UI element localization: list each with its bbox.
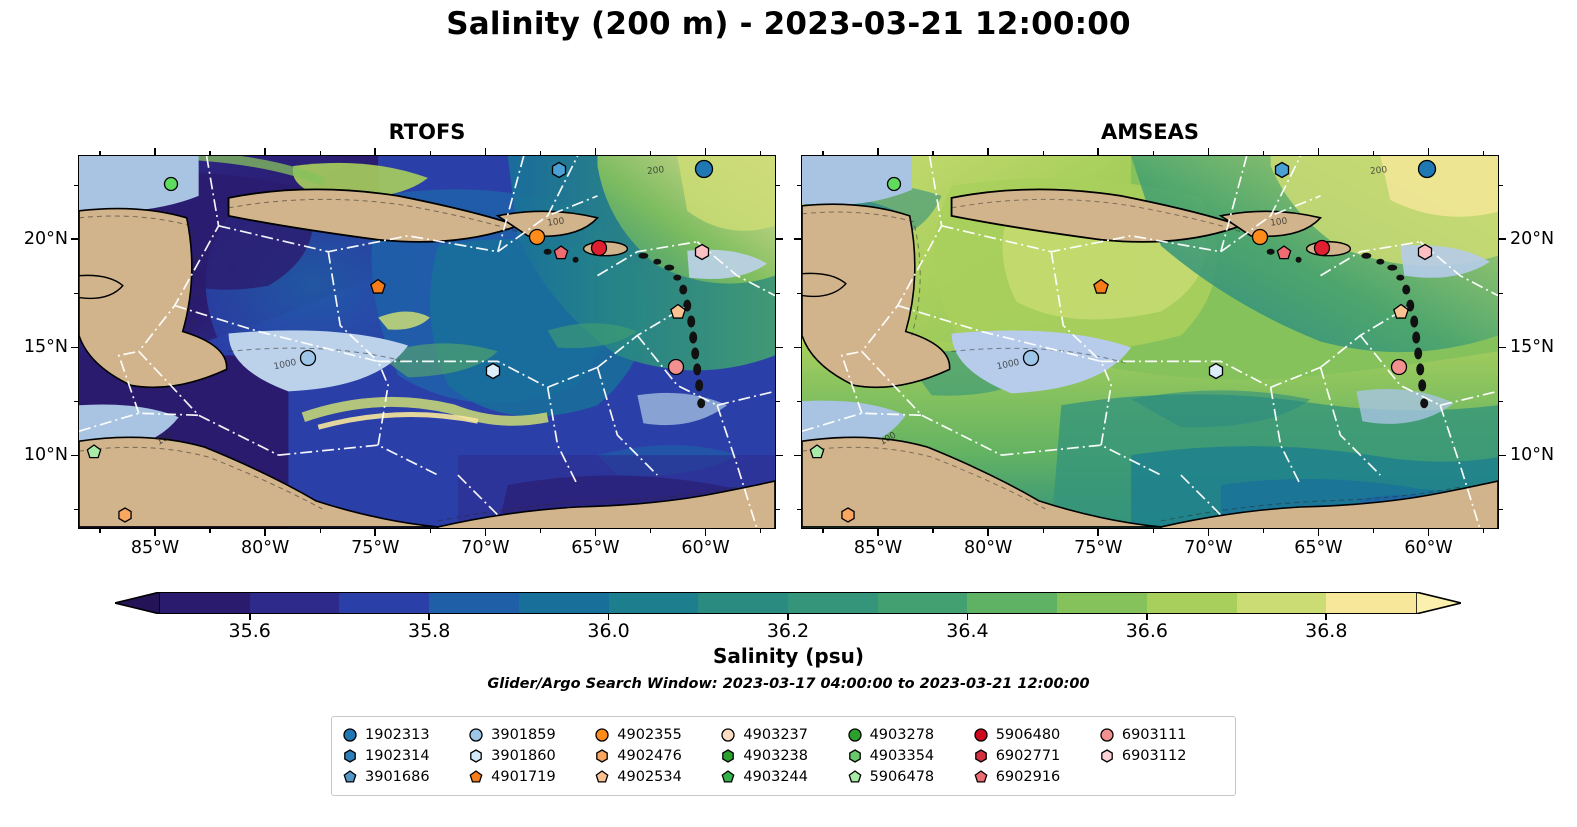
salinity-field-rtofs: 1000 100 100 200 (79, 156, 775, 529)
x-tick-minor (760, 529, 761, 533)
x-tick-minor (650, 529, 651, 533)
x-tick-major-top (1097, 148, 1099, 155)
y-tick-minor-right (776, 185, 780, 186)
legend-marker-hexagon-icon (847, 748, 863, 764)
x-tick-label: 60°W (1404, 538, 1452, 558)
legend-label: 6902916 (996, 769, 1061, 785)
colorbar-segment-0 (160, 593, 250, 613)
legend-item-4903237[interactable]: 4903237 (720, 724, 846, 745)
y-tick-major-left (71, 455, 78, 457)
y-tick-minor-left (797, 293, 801, 294)
float-marker-4902476[interactable] (116, 506, 134, 524)
svg-text:200: 200 (647, 165, 665, 177)
y-tick-minor-left (74, 509, 78, 510)
legend-marker-pentagon-icon (594, 769, 610, 785)
x-tick-major-top (264, 148, 266, 155)
colorbar-segment-2 (339, 593, 429, 613)
float-marker-4903278[interactable] (886, 176, 903, 193)
x-tick-minor (540, 529, 541, 533)
x-tick-minor (209, 529, 210, 533)
colorbar-segment-4 (519, 593, 609, 613)
x-tick-label: 75°W (1074, 538, 1122, 558)
legend-marker-circle-icon (973, 727, 989, 743)
float-marker-4902355[interactable] (1250, 228, 1269, 247)
figure-title: Salinity (200 m) - 2023-03-21 12:00:00 (0, 6, 1577, 42)
legend-label: 4902355 (617, 727, 682, 743)
x-tick-major (264, 529, 266, 536)
x-tick-major (154, 529, 156, 536)
colorbar-tick-label: 36.2 (767, 620, 809, 642)
legend-marker-circle-icon (720, 727, 736, 743)
x-tick-minor-top (99, 151, 100, 155)
legend-label: 3901686 (365, 769, 430, 785)
legend-label: 5906480 (996, 727, 1061, 743)
legend-item-4903244[interactable]: 4903244 (720, 766, 846, 787)
x-tick-label: 70°W (461, 538, 509, 558)
float-marker-1902313[interactable] (694, 158, 715, 179)
x-tick-minor-top (1263, 151, 1264, 155)
x-tick-minor (1153, 529, 1154, 533)
legend-label: 4903278 (870, 727, 935, 743)
x-tick-minor (320, 529, 321, 533)
colorbar-segment-11 (1147, 593, 1237, 613)
legend-item-5906480[interactable]: 5906480 (973, 724, 1099, 745)
legend-marker-circle-icon (468, 727, 484, 743)
float-marker-4901719[interactable] (1092, 277, 1111, 296)
x-tick-minor (1043, 529, 1044, 533)
x-tick-minor (1483, 529, 1484, 533)
map-panel-amseas[interactable]: 1000 100 100 200 (801, 155, 1499, 529)
y-tick-minor-left (797, 185, 801, 186)
legend-label: 6903112 (1122, 748, 1187, 764)
y-tick-major-right (1499, 347, 1506, 349)
y-tick-major-left (794, 455, 801, 457)
y-tick-label-left: 20°N (0, 229, 68, 249)
colorbar-segment-13 (1326, 593, 1416, 613)
legend-item-6903111[interactable]: 6903111 (1099, 724, 1225, 745)
x-tick-minor-top (760, 151, 761, 155)
colorbar-tick-label: 36.4 (946, 620, 988, 642)
legend-label: 4901719 (491, 769, 556, 785)
legend-label: 5906478 (870, 769, 935, 785)
colorbar-segment-6 (698, 593, 788, 613)
x-tick-major (877, 529, 879, 536)
x-tick-major-top (877, 148, 879, 155)
colorbar-segment-5 (609, 593, 699, 613)
x-tick-major-top (374, 148, 376, 155)
float-marker-1902314[interactable] (1273, 161, 1292, 180)
float-marker-3901859[interactable] (298, 349, 317, 368)
x-tick-major (374, 529, 376, 536)
x-tick-major-top (1208, 148, 1210, 155)
x-tick-label: 60°W (681, 538, 729, 558)
legend-marker-pentagon-icon (468, 769, 484, 785)
y-tick-major-right (1499, 238, 1506, 240)
x-tick-minor-top (430, 151, 431, 155)
legend-label: 4903354 (870, 748, 935, 764)
legend-label: 4903238 (743, 748, 808, 764)
legend-label: 1902313 (365, 727, 430, 743)
y-tick-minor-right (1499, 293, 1503, 294)
legend-item-6903112[interactable]: 6903112 (1099, 745, 1225, 766)
legend-marker-hexagon-icon (594, 748, 610, 764)
map-panel-rtofs[interactable]: 1000 100 100 200 (78, 155, 776, 529)
colorbar-tick-label: 36.0 (587, 620, 629, 642)
legend-item-1902314[interactable]: 1902314 (342, 745, 468, 766)
colorbar (115, 592, 1461, 614)
legend-item-6902771[interactable]: 6902771 (973, 745, 1099, 766)
y-tick-label-left: 10°N (0, 445, 68, 465)
float-marker-5906480[interactable] (589, 238, 608, 257)
x-tick-label: 85°W (854, 538, 902, 558)
colorbar-title: Salinity (psu) (0, 644, 1577, 668)
x-tick-minor-top (932, 151, 933, 155)
y-tick-major-left (794, 238, 801, 240)
y-tick-major-left (794, 347, 801, 349)
colorbar-segment-1 (250, 593, 340, 613)
y-tick-minor-left (797, 509, 801, 510)
x-tick-label: 65°W (1294, 538, 1342, 558)
colorbar-segment-10 (1057, 593, 1147, 613)
float-legend: 1902313390185949023554903237490327859064… (331, 716, 1236, 796)
y-tick-label-right: 10°N (1510, 445, 1554, 465)
float-marker-6903111[interactable] (666, 357, 685, 376)
y-tick-minor-right (1499, 509, 1503, 510)
legend-label: 4903237 (743, 727, 808, 743)
y-tick-major-right (1499, 455, 1506, 457)
legend-marker-circle-icon (594, 727, 610, 743)
colorbar-segment-9 (967, 593, 1057, 613)
float-marker-6902916[interactable] (552, 244, 570, 262)
legend-marker-pentagon-icon (342, 769, 358, 785)
x-tick-minor-top (650, 151, 651, 155)
y-tick-major-left (71, 347, 78, 349)
float-marker-6903112[interactable] (1416, 243, 1435, 262)
legend-marker-pentagon-icon (720, 769, 736, 785)
y-tick-minor-right (776, 509, 780, 510)
float-marker-6903112[interactable] (693, 243, 712, 262)
float-marker-3901859[interactable] (1021, 349, 1040, 368)
x-tick-label: 80°W (964, 538, 1012, 558)
float-marker-6902916[interactable] (1275, 244, 1293, 262)
colorbar-over-arrow (1416, 592, 1461, 614)
legend-marker-circle-icon (342, 727, 358, 743)
legend-item-4902355[interactable]: 4902355 (594, 724, 720, 745)
y-tick-label-right: 20°N (1510, 229, 1554, 249)
x-tick-major-top (1428, 148, 1430, 155)
x-tick-major (987, 529, 989, 536)
legend-label: 6902771 (996, 748, 1061, 764)
x-tick-major-top (1318, 148, 1320, 155)
x-tick-minor-top (1153, 151, 1154, 155)
y-tick-minor-right (1499, 401, 1503, 402)
x-tick-minor (932, 529, 933, 533)
y-tick-major-right (776, 347, 783, 349)
legend-item-4903238[interactable]: 4903238 (720, 745, 846, 766)
float-marker-4902476[interactable] (839, 506, 857, 524)
legend-marker-circle-icon (1099, 727, 1115, 743)
x-tick-major-top (987, 148, 989, 155)
x-tick-minor-top (320, 151, 321, 155)
legend-item-3901860[interactable]: 3901860 (468, 745, 594, 766)
salinity-field-amseas: 1000 100 100 200 (802, 156, 1498, 529)
y-tick-minor-right (776, 293, 780, 294)
x-tick-major (1097, 529, 1099, 536)
colorbar-gradient (160, 592, 1416, 614)
legend-label: 3901860 (491, 748, 556, 764)
x-tick-minor (822, 529, 823, 533)
float-marker-3901860[interactable] (1206, 362, 1225, 381)
legend-item-4902534[interactable]: 4902534 (594, 766, 720, 787)
x-tick-major-top (154, 148, 156, 155)
panel-title-rtofs: RTOFS (78, 120, 776, 144)
x-tick-major (485, 529, 487, 536)
float-marker-4901719[interactable] (369, 277, 388, 296)
x-tick-minor-top (1483, 151, 1484, 155)
legend-marker-hexagon-icon (342, 748, 358, 764)
x-tick-minor (430, 529, 431, 533)
y-tick-minor-left (74, 401, 78, 402)
x-tick-major (1428, 529, 1430, 536)
x-tick-minor (99, 529, 100, 533)
x-tick-major (1318, 529, 1320, 536)
colorbar-tick-label: 36.6 (1126, 620, 1168, 642)
colorbar-segment-12 (1237, 593, 1327, 613)
x-tick-label: 70°W (1184, 538, 1232, 558)
x-tick-minor-top (540, 151, 541, 155)
legend-item-5906478[interactable]: 5906478 (847, 766, 973, 787)
x-tick-major-top (705, 148, 707, 155)
float-marker-4903278[interactable] (163, 176, 180, 193)
float-marker-1902313[interactable] (1417, 158, 1438, 179)
x-tick-minor (1263, 529, 1264, 533)
legend-item-4901719[interactable]: 4901719 (468, 766, 594, 787)
x-tick-label: 85°W (131, 538, 179, 558)
float-marker-5906478[interactable] (808, 443, 826, 461)
float-marker-5906478[interactable] (85, 443, 103, 461)
legend-marker-hexagon-icon (1099, 748, 1115, 764)
float-marker-3901860[interactable] (483, 362, 502, 381)
float-marker-4902534[interactable] (1391, 302, 1410, 321)
y-tick-minor-left (74, 185, 78, 186)
x-tick-minor-top (1373, 151, 1374, 155)
legend-marker-circle-icon (847, 727, 863, 743)
y-tick-major-right (776, 455, 783, 457)
legend-label: 6903111 (1122, 727, 1187, 743)
colorbar-under-arrow (115, 592, 160, 614)
search-window-text: Glider/Argo Search Window: 2023-03-17 04… (0, 676, 1577, 692)
y-tick-label-left: 15°N (0, 337, 68, 357)
x-tick-major (705, 529, 707, 536)
colorbar-tick-label: 36.8 (1305, 620, 1347, 642)
x-tick-major (595, 529, 597, 536)
legend-item-4903278[interactable]: 4903278 (847, 724, 973, 745)
y-tick-label-right: 15°N (1510, 337, 1554, 357)
x-tick-minor (1373, 529, 1374, 533)
panel-title-amseas: AMSEAS (801, 120, 1499, 144)
legend-item-3901859[interactable]: 3901859 (468, 724, 594, 745)
legend-label: 4902534 (617, 769, 682, 785)
x-tick-minor-top (209, 151, 210, 155)
float-marker-1902314[interactable] (550, 161, 569, 180)
legend-item-4903354[interactable]: 4903354 (847, 745, 973, 766)
legend-item-3901686[interactable]: 3901686 (342, 766, 468, 787)
y-tick-major-left (71, 238, 78, 240)
y-tick-major-right (776, 238, 783, 240)
x-tick-major (1208, 529, 1210, 536)
legend-marker-hexagon-icon (468, 748, 484, 764)
y-tick-minor-left (74, 293, 78, 294)
colorbar-segment-8 (878, 593, 968, 613)
legend-label: 4903244 (743, 769, 808, 785)
y-tick-minor-right (1499, 185, 1503, 186)
float-marker-4902355[interactable] (527, 228, 546, 247)
legend-item-6902916[interactable]: 6902916 (973, 766, 1099, 787)
colorbar-segment-3 (429, 593, 519, 613)
legend-marker-hexagon-icon (973, 748, 989, 764)
legend-label: 4902476 (617, 748, 682, 764)
legend-item-4902476[interactable]: 4902476 (594, 745, 720, 766)
svg-text:200: 200 (1370, 165, 1388, 177)
legend-marker-pentagon-icon (847, 769, 863, 785)
y-tick-minor-right (776, 401, 780, 402)
colorbar-tick-label: 35.6 (229, 620, 271, 642)
x-tick-minor-top (1043, 151, 1044, 155)
y-tick-minor-left (797, 401, 801, 402)
x-tick-label: 80°W (241, 538, 289, 558)
float-marker-4902534[interactable] (668, 302, 687, 321)
colorbar-segment-7 (788, 593, 878, 613)
x-tick-minor-top (822, 151, 823, 155)
legend-label: 3901859 (491, 727, 556, 743)
x-tick-major-top (595, 148, 597, 155)
legend-item-1902313[interactable]: 1902313 (342, 724, 468, 745)
float-marker-5906480[interactable] (1312, 238, 1331, 257)
x-tick-major-top (485, 148, 487, 155)
legend-label: 1902314 (365, 748, 430, 764)
legend-marker-hexagon-icon (720, 748, 736, 764)
legend-marker-pentagon-icon (973, 769, 989, 785)
float-marker-6903111[interactable] (1389, 357, 1408, 376)
colorbar-tick-label: 35.8 (408, 620, 450, 642)
x-tick-label: 65°W (571, 538, 619, 558)
x-tick-label: 75°W (351, 538, 399, 558)
